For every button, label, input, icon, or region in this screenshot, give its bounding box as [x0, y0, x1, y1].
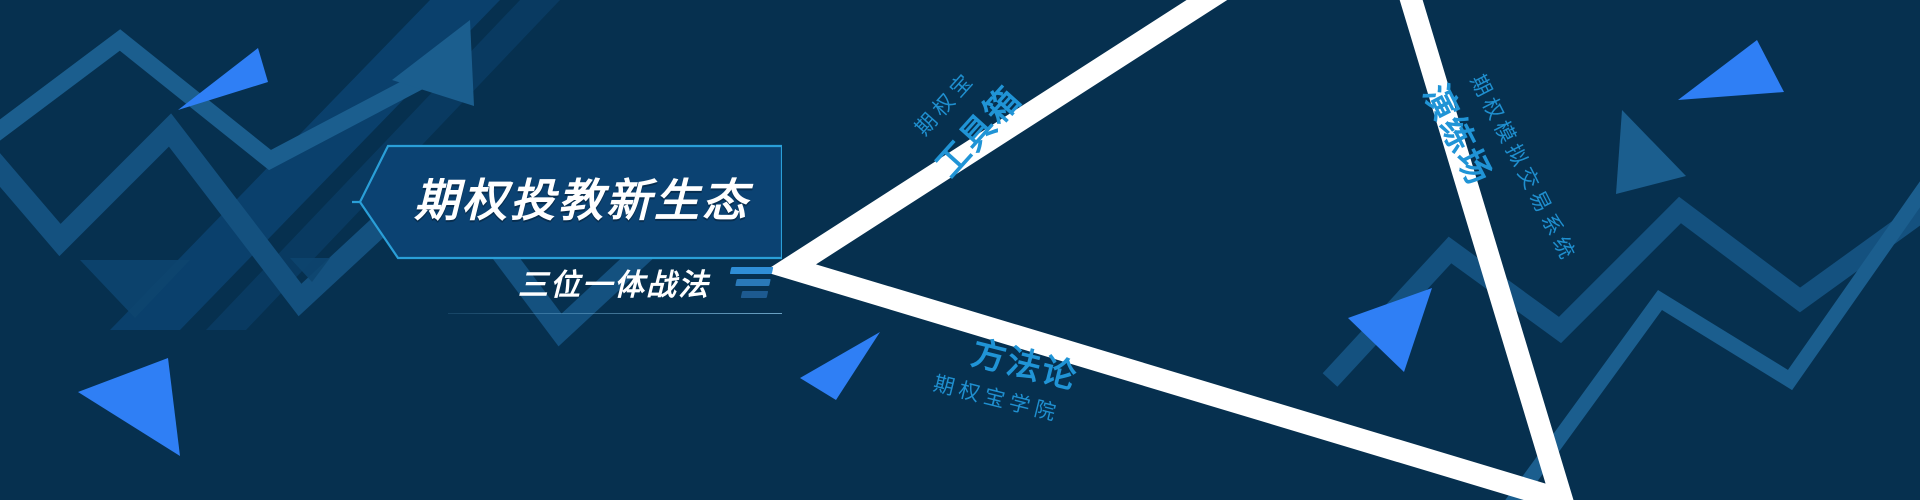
banner-root: 期权投教新生态 三位一体战法 期权宝 工具箱 期权模拟交易系统 演练场 方法论 … [0, 0, 1920, 500]
stepped-bars-icon [725, 267, 774, 298]
page-subtitle: 三位一体战法 [518, 260, 710, 304]
page-title: 期权投教新生态 [414, 164, 750, 229]
headline-block: 期权投教新生态 三位一体战法 [352, 132, 782, 332]
subtitle-divider [448, 313, 782, 314]
subtitle-row: 三位一体战法 [518, 260, 770, 304]
